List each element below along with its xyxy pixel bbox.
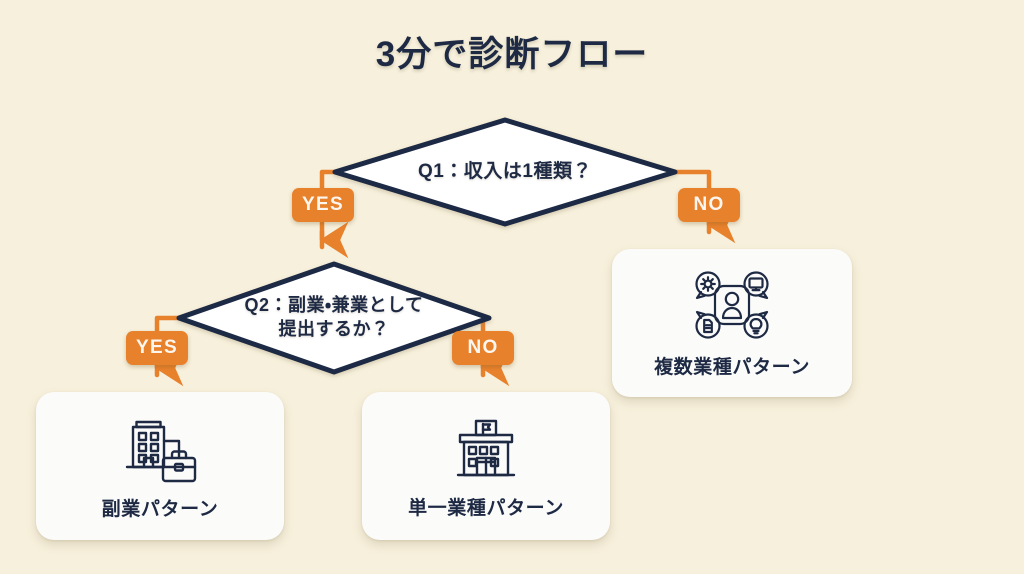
decision-q1-text: Q1：収入は1種類？ [418, 159, 592, 184]
result-card-single-industry[interactable]: 単一業種パターン [362, 392, 610, 540]
slide-canvas: 3分で診断フロー [0, 0, 1024, 574]
edge-label-q2-no[interactable]: NO [452, 331, 514, 365]
decision-q2-text: Q2：副業・兼業として 提出するか？ [244, 294, 423, 342]
decision-node-q2[interactable]: Q2：副業・兼業として 提出するか？ [179, 264, 489, 372]
result-card-multi-industry[interactable]: 複数業種パターン [612, 249, 852, 397]
decision-q2-line1: Q2：副業・兼業として [244, 294, 423, 318]
edge-label-q1-yes[interactable]: YES [292, 188, 354, 222]
edge-label-q1-no[interactable]: NO [678, 188, 740, 222]
result-card-multi-industry-label: 複数業種パターン [654, 352, 810, 379]
building-briefcase-icon [119, 412, 201, 484]
office-building-icon [446, 413, 526, 483]
edge-label-q2-yes[interactable]: YES [126, 331, 188, 365]
people-network-icon [693, 268, 771, 342]
page-title: 3分で診断フロー [0, 26, 1024, 77]
decision-node-q1[interactable]: Q1：収入は1種類？ [335, 120, 675, 224]
result-card-single-industry-label: 単一業種パターン [408, 493, 564, 520]
result-card-side-job-label: 副業パターン [102, 494, 219, 521]
result-card-side-job[interactable]: 副業パターン [36, 392, 284, 540]
decision-q2-line2: 提出するか？ [244, 318, 423, 342]
